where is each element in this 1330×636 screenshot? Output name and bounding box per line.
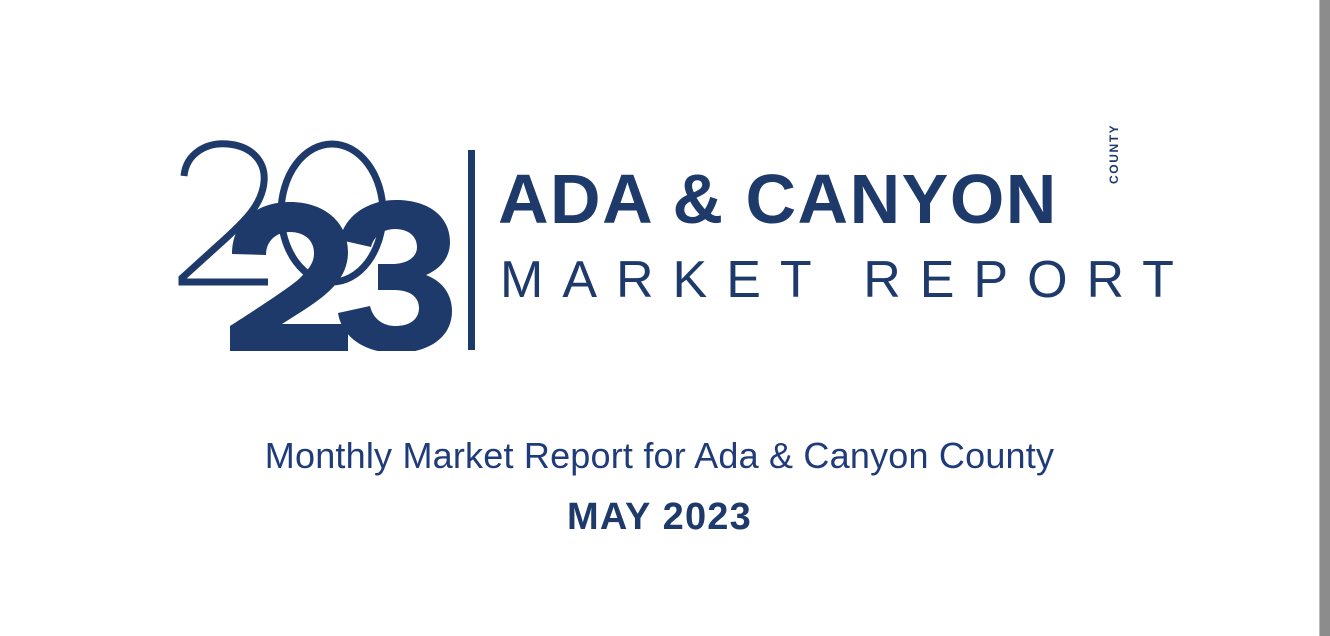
report-date: MAY 2023 — [0, 494, 1319, 540]
brand-logo-lockup: ADA & CANYON COUNTY MARKET REPORT — [172, 136, 1162, 351]
page-right-gutter — [1319, 0, 1330, 636]
wordmark-primary-line: ADA & CANYON COUNTY — [498, 164, 1058, 234]
report-subtitle: Monthly Market Report for Ada & Canyon C… — [0, 430, 1319, 482]
logo-wordmark: ADA & CANYON COUNTY MARKET REPORT — [498, 136, 1162, 351]
logo-divider-rule — [468, 150, 475, 350]
wordmark-market-report: MARKET REPORT — [500, 254, 1193, 306]
wordmark-ada-canyon: ADA & CANYON — [498, 164, 1058, 234]
year-mark-2023-icon — [172, 136, 452, 351]
cover-content: ADA & CANYON COUNTY MARKET REPORT Monthl… — [0, 0, 1319, 636]
wordmark-county-superscript: COUNTY — [1108, 124, 1120, 184]
cover-subtitle-block: Monthly Market Report for Ada & Canyon C… — [0, 430, 1319, 540]
report-cover-page: ADA & CANYON COUNTY MARKET REPORT Monthl… — [0, 0, 1330, 636]
